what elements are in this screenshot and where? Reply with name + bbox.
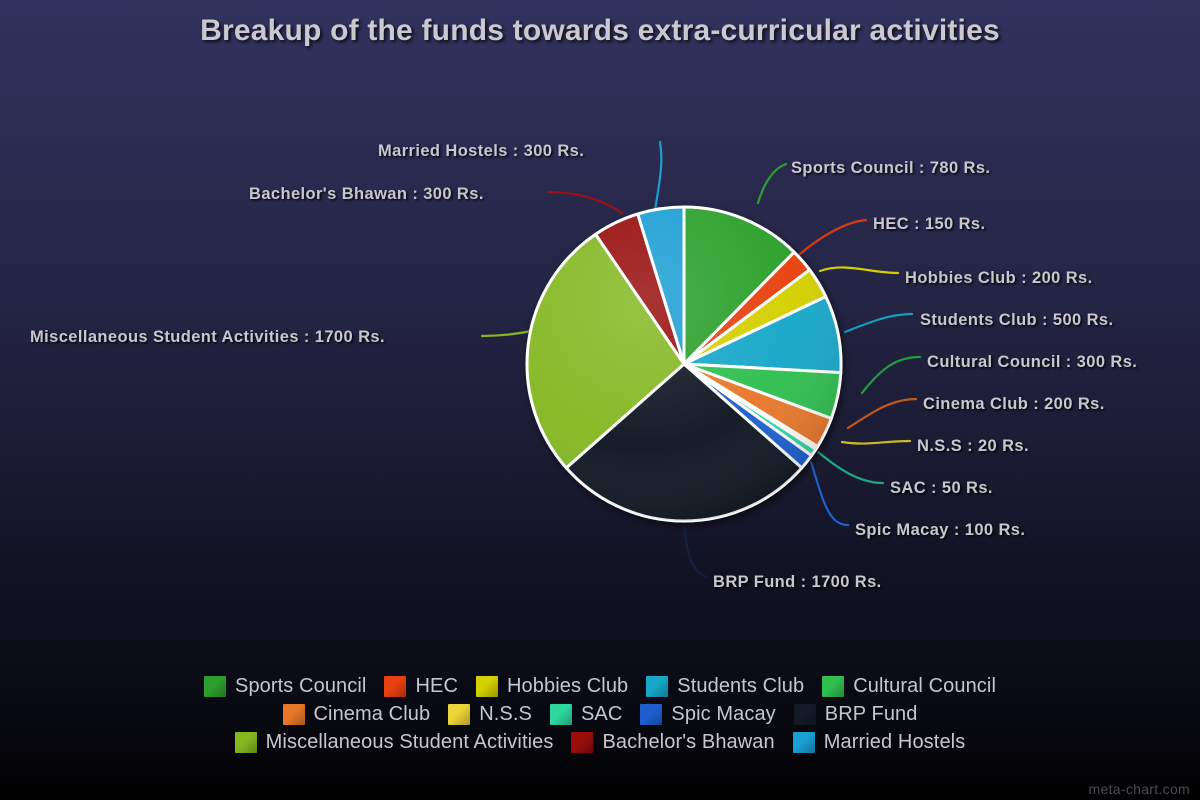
legend-item[interactable]: BRP Fund	[794, 704, 918, 725]
callout-label: Miscellaneous Student Activities : 1700 …	[30, 328, 385, 347]
legend-label: Cultural Council	[853, 676, 996, 696]
legend-swatch-icon	[822, 676, 844, 697]
watermark: meta-chart.com	[1089, 781, 1190, 797]
leader-line-bachelors-bhawan	[548, 192, 622, 213]
legend-label: Miscellaneous Student Activities	[266, 732, 554, 752]
legend-item[interactable]: SAC	[550, 704, 622, 725]
leader-line-hobbies-club	[820, 267, 898, 273]
leader-line-students-club	[845, 314, 912, 332]
legend-swatch-icon	[793, 732, 815, 753]
leader-line-nss	[842, 441, 910, 444]
legend-swatch-icon	[283, 704, 305, 725]
legend-label: Cinema Club	[314, 704, 431, 724]
legend-item[interactable]: Married Hostels	[793, 732, 966, 753]
callout-label: N.S.S : 20 Rs.	[917, 437, 1029, 456]
legend: Sports CouncilHECHobbies ClubStudents Cl…	[0, 672, 1200, 756]
callout-label: HEC : 150 Rs.	[873, 215, 986, 234]
chart-canvas: Breakup of the funds towards extra-curri…	[0, 0, 1200, 800]
callout-label: Cinema Club : 200 Rs.	[923, 395, 1105, 414]
legend-item[interactable]: Bachelor's Bhawan	[571, 732, 774, 753]
legend-swatch-icon	[235, 732, 257, 753]
legend-swatch-icon	[550, 704, 572, 725]
legend-swatch-icon	[640, 704, 662, 725]
legend-swatch-icon	[794, 704, 816, 725]
legend-label: HEC	[415, 676, 458, 696]
legend-item[interactable]: Spic Macay	[640, 704, 775, 725]
callout-label: Cultural Council : 300 Rs.	[927, 353, 1137, 372]
legend-swatch-icon	[476, 676, 498, 697]
legend-item[interactable]: N.S.S	[448, 704, 532, 725]
legend-label: Sports Council	[235, 676, 366, 696]
callout-label: Hobbies Club : 200 Rs.	[905, 269, 1093, 288]
leader-line-sac	[818, 452, 883, 483]
legend-swatch-icon	[448, 704, 470, 725]
legend-label: Hobbies Club	[507, 676, 628, 696]
legend-row: Miscellaneous Student ActivitiesBachelor…	[0, 728, 1200, 756]
legend-item[interactable]: Sports Council	[204, 676, 366, 697]
legend-label: Spic Macay	[671, 704, 775, 724]
callout-label: BRP Fund : 1700 Rs.	[713, 573, 882, 592]
leader-line-married-hostels	[655, 142, 661, 210]
leader-line-sports-council	[758, 164, 786, 203]
callout-label: Spic Macay : 100 Rs.	[855, 521, 1025, 540]
legend-swatch-icon	[384, 676, 406, 697]
legend-label: BRP Fund	[825, 704, 918, 724]
legend-item[interactable]: Students Club	[646, 676, 804, 697]
pie-slices	[527, 207, 841, 521]
legend-item[interactable]: Miscellaneous Student Activities	[235, 732, 554, 753]
legend-label: SAC	[581, 704, 622, 724]
leader-line-hec	[800, 220, 866, 254]
callout-label: Sports Council : 780 Rs.	[791, 159, 990, 178]
legend-item[interactable]: Hobbies Club	[476, 676, 628, 697]
legend-label: Students Club	[677, 676, 804, 696]
legend-row: Cinema ClubN.S.SSACSpic MacayBRP Fund	[0, 700, 1200, 728]
legend-item[interactable]: Cultural Council	[822, 676, 996, 697]
legend-label: N.S.S	[479, 704, 532, 724]
legend-item[interactable]: Cinema Club	[283, 704, 431, 725]
leader-line-spic-macay	[811, 462, 848, 525]
callout-label: Students Club : 500 Rs.	[920, 311, 1113, 330]
legend-label: Married Hostels	[824, 732, 966, 752]
leader-line-cultural-council	[862, 357, 920, 393]
legend-label: Bachelor's Bhawan	[602, 732, 774, 752]
leader-line-brp-fund	[684, 521, 706, 577]
legend-swatch-icon	[571, 732, 593, 753]
legend-swatch-icon	[646, 676, 668, 697]
leader-line-miscellaneous	[482, 330, 536, 336]
leader-line-cinema-club	[848, 399, 916, 428]
legend-item[interactable]: HEC	[384, 676, 458, 697]
callout-label: Bachelor's Bhawan : 300 Rs.	[249, 185, 484, 204]
callout-label: SAC : 50 Rs.	[890, 479, 993, 498]
legend-row: Sports CouncilHECHobbies ClubStudents Cl…	[0, 672, 1200, 700]
legend-swatch-icon	[204, 676, 226, 697]
callout-label: Married Hostels : 300 Rs.	[378, 142, 584, 161]
